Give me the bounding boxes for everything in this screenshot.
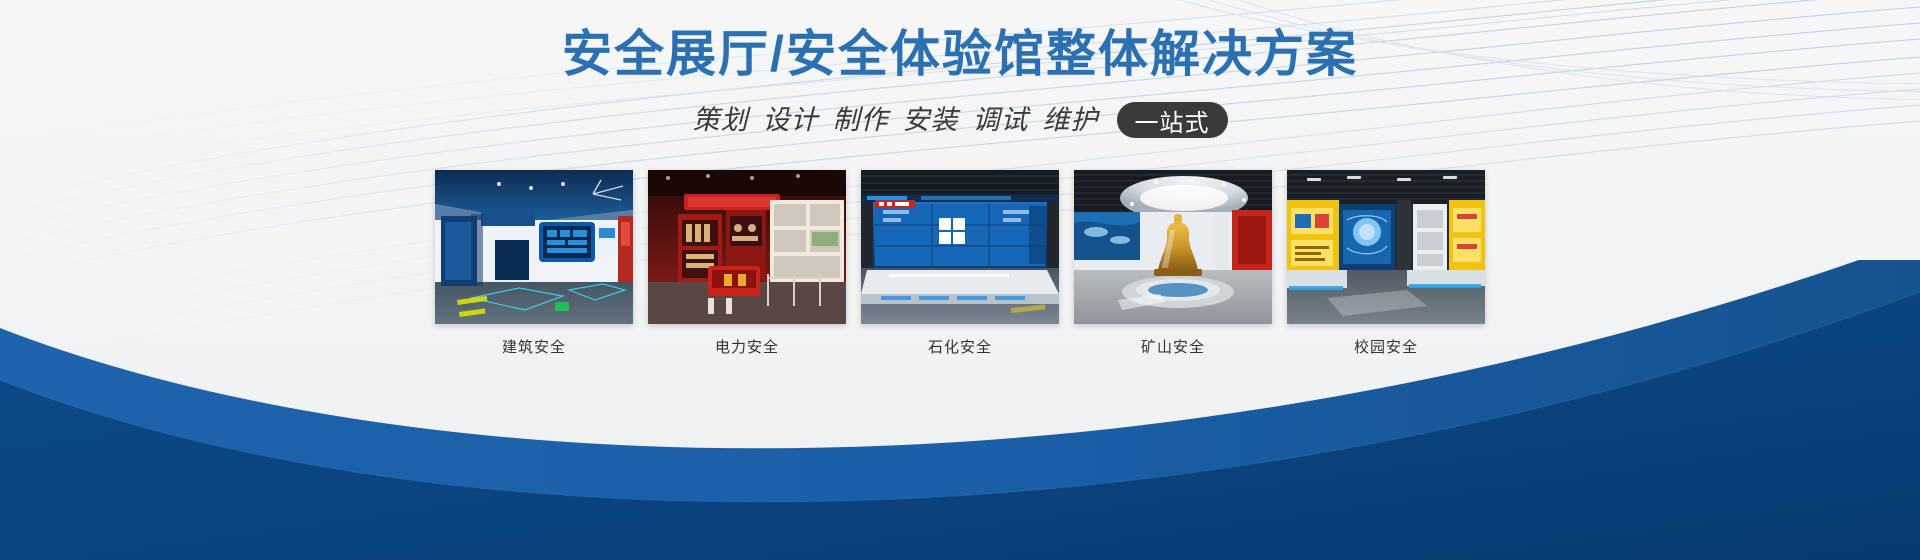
subtitle-word-6: 维护 — [1043, 100, 1099, 140]
one-stop-badge: 一站式 — [1117, 102, 1228, 138]
page-title: 安全展厅/安全体验馆整体解决方案 — [0, 24, 1920, 84]
showroom-gallery: 建筑安全 — [0, 170, 1920, 359]
subtitle-word-5: 调试 — [973, 100, 1029, 140]
gallery-card-1[interactable]: 建筑安全 — [435, 170, 633, 359]
gallery-thumbnail-campus[interactable] — [1287, 170, 1485, 324]
gallery-caption-1: 建筑安全 — [502, 337, 566, 359]
gallery-caption-2: 电力安全 — [715, 337, 779, 359]
subtitle-word-1: 策划 — [693, 100, 749, 140]
subtitle-word-3: 制作 — [833, 100, 889, 140]
subtitle-word-2: 设计 — [763, 100, 819, 140]
subtitle-word-4: 安装 — [903, 100, 959, 140]
gallery-thumbnail-power[interactable] — [648, 170, 846, 324]
gallery-caption-4: 矿山安全 — [1141, 337, 1205, 359]
gallery-caption-5: 校园安全 — [1354, 337, 1418, 359]
gallery-card-5[interactable]: 校园安全 — [1287, 170, 1485, 359]
gallery-thumbnail-petrochemical[interactable] — [861, 170, 1059, 324]
gallery-caption-3: 石化安全 — [928, 337, 992, 359]
promo-banner: 安全展厅/安全体验馆整体解决方案 策划 设计 制作 安装 调试 维护 一站式 — [0, 0, 1920, 560]
gallery-card-3[interactable]: 石化安全 — [861, 170, 1059, 359]
subtitle-row: 策划 设计 制作 安装 调试 维护 一站式 — [0, 100, 1920, 140]
gallery-card-4[interactable]: 矿山安全 — [1074, 170, 1272, 359]
gallery-thumbnail-mining[interactable] — [1074, 170, 1272, 324]
gallery-thumbnail-construction[interactable] — [435, 170, 633, 324]
gallery-card-2[interactable]: 电力安全 — [648, 170, 846, 359]
